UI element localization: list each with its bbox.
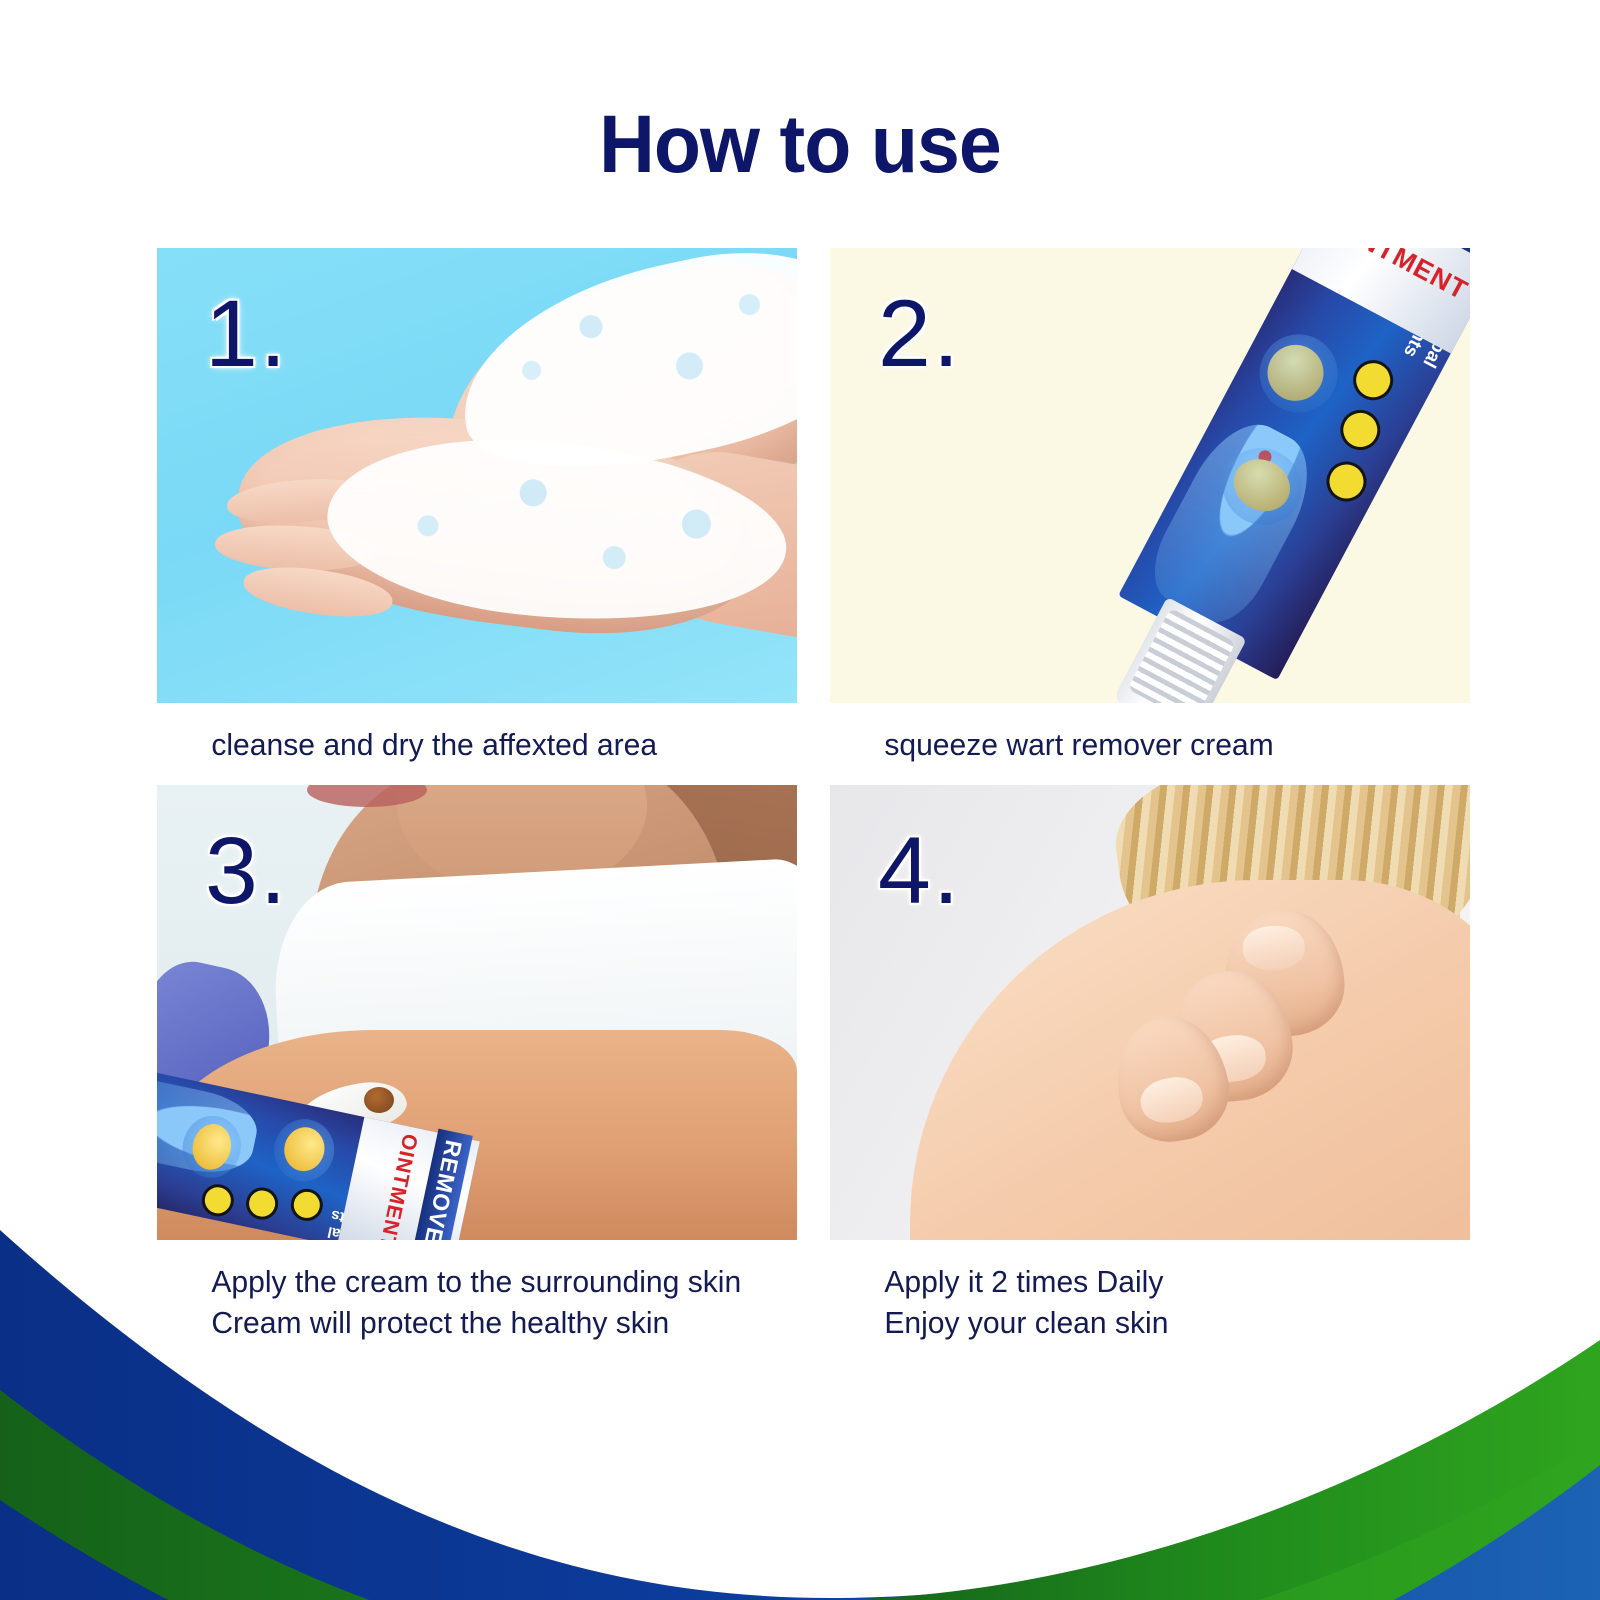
step-1-image: 1. [157,248,797,703]
how-to-use-infographic: How to use 1. cleanse and dry the affext… [0,0,1600,1600]
step-2-image: 2. Natural Herbal Ingredients [830,248,1470,703]
tube-ointment-text-3: OINTMENT [372,1125,423,1241]
tube-badge-3c [199,1182,237,1220]
step-4-caption: Apply it 2 times Daily Enjoy your clean … [830,1262,1451,1343]
ointment-tube: Natural Herbal Ingredients REMOVER OINTM… [1071,248,1470,703]
tube-badge-3b [243,1185,281,1223]
step-2-caption: squeeze wart remover cream [830,725,1451,765]
page-title: How to use [48,98,1552,192]
step-3-number: 3. [205,817,288,926]
tube-badge-3 [1319,454,1373,508]
tube-badge-2 [1333,403,1387,457]
step-3-image: 3. [157,785,797,1240]
step-1-caption: cleanse and dry the affexted area [157,725,778,765]
wave-green-shape [0,1365,1600,1600]
tube-badge-3a [288,1186,326,1224]
wave-green-ribbon-right [830,1340,1600,1600]
steps-grid: 1. cleanse and dry the affexted area 2. [157,248,1447,1343]
step-3: 3. [157,785,797,1343]
step-4-number: 4. [878,817,961,926]
step-1-number: 1. [205,280,288,389]
tube-badge-1 [1346,353,1400,407]
step-3-caption: Apply the cream to the surrounding skin … [157,1262,778,1343]
step-1: 1. cleanse and dry the affexted area [157,248,797,765]
tube-dot-blue-1 [1246,321,1351,426]
step-4-image: 4. [830,785,1470,1240]
step-2-number: 2. [878,280,961,389]
step-4: 4. Apply it 2 times Daily Enjoy your cle… [830,785,1470,1343]
step-2: 2. Natural Herbal Ingredients [830,248,1470,765]
